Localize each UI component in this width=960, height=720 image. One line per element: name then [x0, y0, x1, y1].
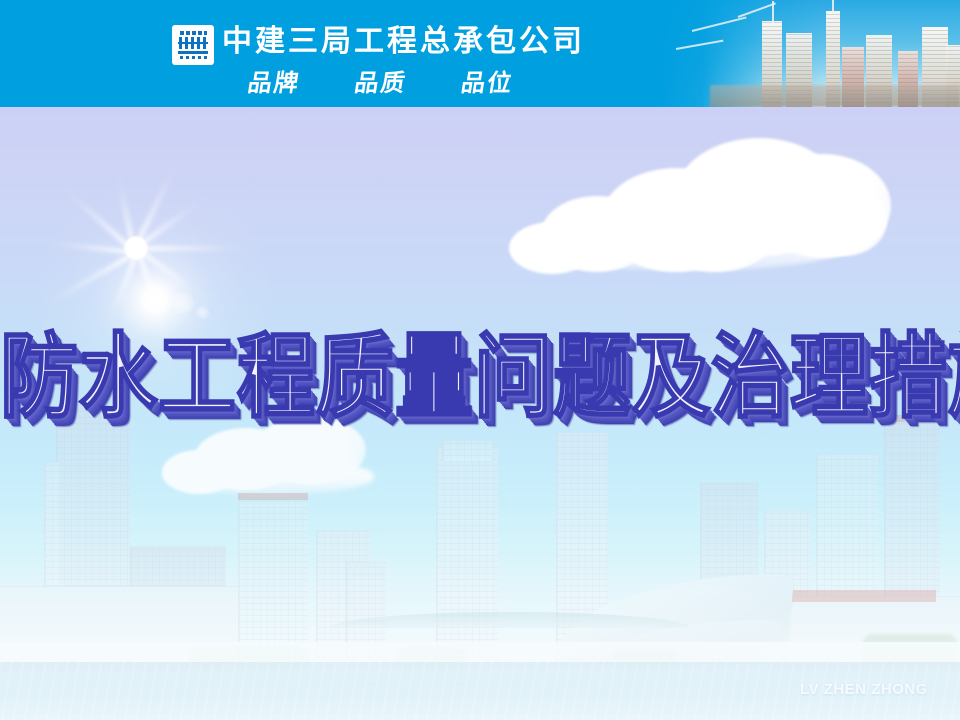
crane-icon	[738, 2, 776, 18]
skyline-banner-photo	[660, 0, 960, 107]
slogan-word-3: 品位	[459, 68, 516, 98]
header-banner: 中建三局工程总承包公司 品牌 品质 品位	[0, 0, 960, 107]
crane-icon	[692, 16, 747, 31]
slogan-word-1: 品牌	[246, 68, 303, 98]
company-name: 中建三局工程总承包公司	[222, 24, 585, 60]
company-slogan: 品牌 品质 品位	[246, 68, 516, 98]
cscec-building-logo-icon	[172, 25, 214, 65]
title-slide: 中建三局工程总承包公司 品牌 品质 品位 防水工程质量问题及治理措施 LV ZH…	[0, 0, 960, 720]
sky-background	[0, 105, 960, 720]
crane-icon	[676, 40, 724, 50]
author-watermark: LV ZHEN ZHONG	[800, 681, 928, 698]
slogan-word-2: 品质	[352, 68, 409, 98]
